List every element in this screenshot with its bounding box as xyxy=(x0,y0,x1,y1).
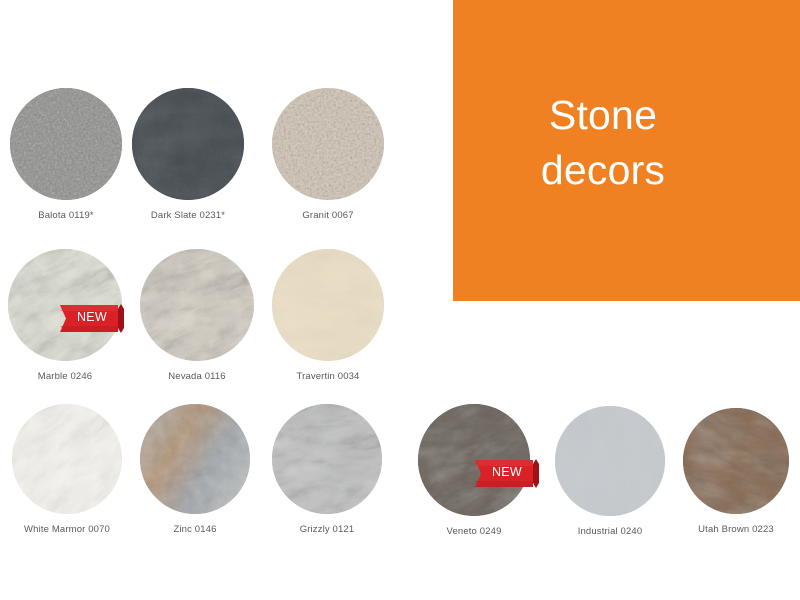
swatch-disc xyxy=(272,404,382,514)
stone-texture-veined-marble xyxy=(683,408,789,514)
swatch-label: Marble 0246 xyxy=(38,371,92,382)
swatch-disc xyxy=(12,404,122,514)
page-title: Stone decors xyxy=(453,88,753,197)
swatch-label: Dark Slate 0231* xyxy=(151,210,225,221)
stone-texture-concrete xyxy=(555,406,665,516)
slide-canvas: Stone decors Balota 0119* xyxy=(0,0,800,600)
new-badge-label: NEW xyxy=(69,310,115,325)
swatch-grizzly-0121[interactable]: Grizzly 0121 xyxy=(272,404,382,514)
stone-texture-veined-marble xyxy=(12,404,122,514)
stone-texture-veined-marble xyxy=(272,404,382,514)
swatch-label: Balota 0119* xyxy=(38,210,94,221)
stone-texture-travertine xyxy=(272,249,384,361)
swatch-disc xyxy=(10,88,122,200)
page-title-line-2: decors xyxy=(453,143,753,198)
swatch-label: Travertin 0034 xyxy=(296,371,359,382)
swatch-label: Zinc 0146 xyxy=(173,524,216,535)
swatch-label: Veneto 0249 xyxy=(446,526,501,537)
swatch-disc xyxy=(683,408,789,514)
swatch-disc xyxy=(140,249,254,361)
swatch-label: Granit 0067 xyxy=(302,210,353,221)
swatch-disc xyxy=(555,406,665,516)
swatch-label: Utah Brown 0223 xyxy=(698,524,774,535)
swatch-label: Industrial 0240 xyxy=(578,526,643,537)
new-badge-label: NEW xyxy=(484,465,530,480)
new-badge-ribbon: NEW xyxy=(60,303,124,334)
stone-texture-speckled-granite xyxy=(272,88,384,200)
swatch-disc xyxy=(272,88,384,200)
new-badge-ribbon: NEW xyxy=(475,458,539,489)
swatch-white-marmor-0070[interactable]: White Marmor 0070 xyxy=(12,404,122,514)
swatch-industrial-0240[interactable]: Industrial 0240 xyxy=(555,406,665,516)
page-title-line-1: Stone xyxy=(453,88,753,143)
swatch-zinc-0146[interactable]: Zinc 0146 xyxy=(140,404,250,514)
swatch-balota-0119[interactable]: Balota 0119* xyxy=(10,88,122,200)
swatch-label: Grizzly 0121 xyxy=(300,524,355,535)
swatch-label: Nevada 0116 xyxy=(168,371,225,382)
stone-texture-slate xyxy=(132,88,244,200)
stone-texture-quartzite xyxy=(140,249,254,361)
swatch-marble-0246[interactable]: NEW Marble 0246 xyxy=(8,249,122,361)
stone-texture-speckled-granite xyxy=(10,88,122,200)
swatch-granit-0067[interactable]: Granit 0067 xyxy=(272,88,384,200)
swatch-disc xyxy=(132,88,244,200)
stone-texture-oxidized-metal xyxy=(140,404,250,514)
swatch-disc xyxy=(140,404,250,514)
swatch-utah-brown-0223[interactable]: Utah Brown 0223 xyxy=(683,408,789,514)
swatch-travertin-0034[interactable]: Travertin 0034 xyxy=(272,249,384,361)
swatch-label: White Marmor 0070 xyxy=(24,524,110,535)
swatch-nevada-0116[interactable]: Nevada 0116 xyxy=(140,249,254,361)
title-panel: Stone decors xyxy=(453,0,800,301)
swatch-dark-slate-0231[interactable]: Dark Slate 0231* xyxy=(132,88,244,200)
swatch-disc xyxy=(272,249,384,361)
swatch-veneto-0249[interactable]: NEW Veneto 0249 xyxy=(418,404,530,516)
